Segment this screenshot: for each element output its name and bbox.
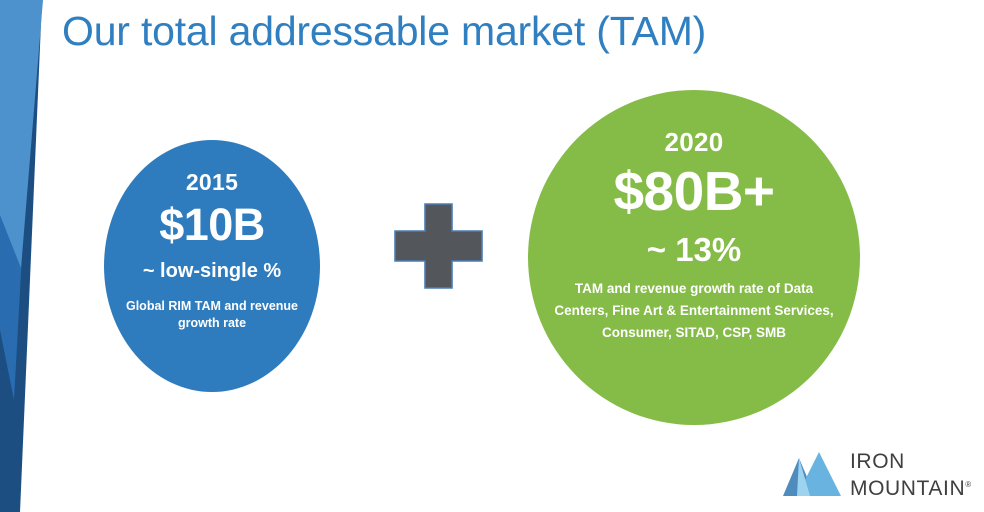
circle-2020-value: $80B+ — [613, 158, 774, 224]
mountain-icon — [783, 450, 841, 500]
page-title: Our total addressable market (TAM) — [62, 4, 706, 58]
logo-text-mountain-word: MOUNTAIN — [850, 477, 965, 500]
left-edge-decoration — [0, 0, 80, 512]
logo-text-iron: IRON — [850, 450, 972, 473]
slide-canvas: Our total addressable market (TAM) 2015 … — [0, 0, 984, 512]
plus-shape — [395, 204, 482, 288]
circle-2015-value: $10B — [159, 198, 265, 252]
circle-2020-year: 2020 — [664, 126, 723, 158]
tam-circle-2020: 2020 $80B+ ~ 13% TAM and revenue growth … — [528, 90, 860, 425]
circle-2015-year: 2015 — [186, 168, 238, 196]
circle-2020-growth-rate: ~ 13% — [647, 230, 742, 270]
circle-2015-description: Global RIM TAM and revenue growth rate — [120, 298, 305, 332]
iron-mountain-logo: IRON MOUNTAIN® — [783, 447, 951, 503]
logo-text-mountain: MOUNTAIN® — [850, 473, 972, 500]
deco-shape-mid — [0, 0, 36, 400]
tam-circle-2015: 2015 $10B ~ low-single % Global RIM TAM … — [104, 140, 320, 392]
deco-shape-light — [0, 0, 43, 268]
registered-trademark-icon: ® — [965, 480, 972, 489]
deco-shape-dark — [0, 0, 42, 512]
circle-2015-growth-rate: ~ low-single % — [143, 258, 281, 284]
plus-icon — [394, 203, 483, 289]
logo-wordmark: IRON MOUNTAIN® — [850, 450, 972, 500]
circle-2020-description: TAM and revenue growth rate of Data Cent… — [549, 278, 839, 344]
